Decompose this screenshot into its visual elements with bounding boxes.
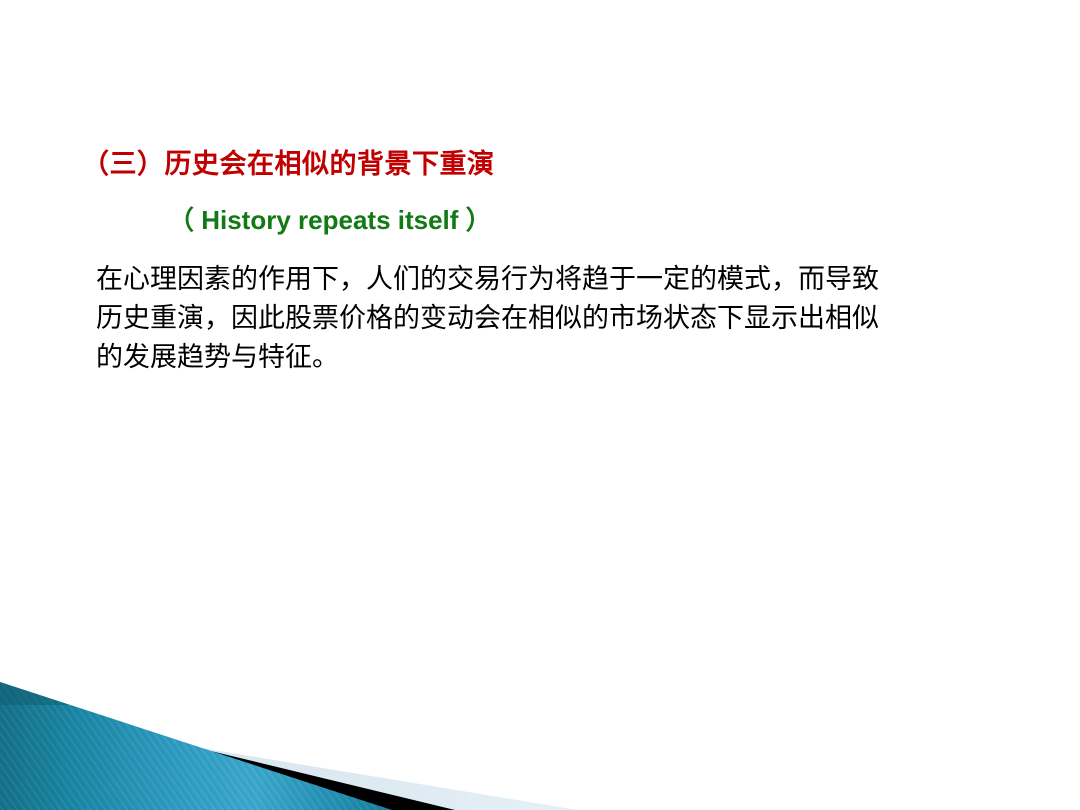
teal-wedge-tip-shade: [0, 682, 70, 705]
body-paragraph: 在心理因素的作用下，人们的交易行为将趋于一定的模式，而导致 历史重演，因此股票价…: [96, 260, 986, 377]
slide-canvas: （三）历史会在相似的背景下重演 （ History repeats itself…: [0, 0, 1080, 810]
pale-blue-wedge-shape: [0, 715, 578, 810]
teal-wedge-shape: [0, 682, 392, 810]
page-subtitle-english: （ History repeats itself ）: [168, 206, 492, 236]
black-wedge-shape: [0, 700, 455, 810]
body-line: 历史重演，因此股票价格的变动会在相似的市场状态下显示出相似: [96, 299, 986, 338]
page-title: （三）历史会在相似的背景下重演: [82, 149, 495, 180]
teal-wedge-texture: [0, 682, 392, 810]
bottom-left-banner-decoration: [0, 660, 1080, 810]
slide-content: （三）历史会在相似的背景下重演 （ History repeats itself…: [0, 0, 1080, 660]
body-line: 在心理因素的作用下，人们的交易行为将趋于一定的模式，而导致: [96, 260, 986, 299]
body-line: 的发展趋势与特征。: [96, 338, 986, 377]
